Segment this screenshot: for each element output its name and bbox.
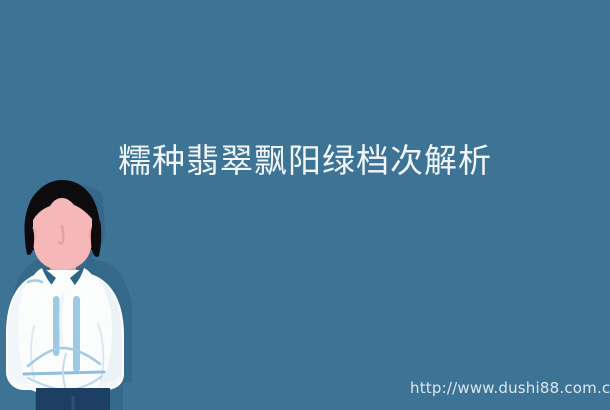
image-canvas: 糯种翡翠飘阳绿档次解析 http://www.dushi88.com.cn — [0, 0, 610, 410]
page-title: 糯种翡翠飘阳绿档次解析 — [0, 141, 610, 181]
drawstring-right — [73, 296, 80, 372]
drawstring-left — [53, 296, 60, 356]
young-man-illustration-svg — [0, 178, 132, 410]
watermark-url: http://www.dushi88.com.cn — [410, 379, 610, 397]
character-illustration — [0, 178, 132, 410]
